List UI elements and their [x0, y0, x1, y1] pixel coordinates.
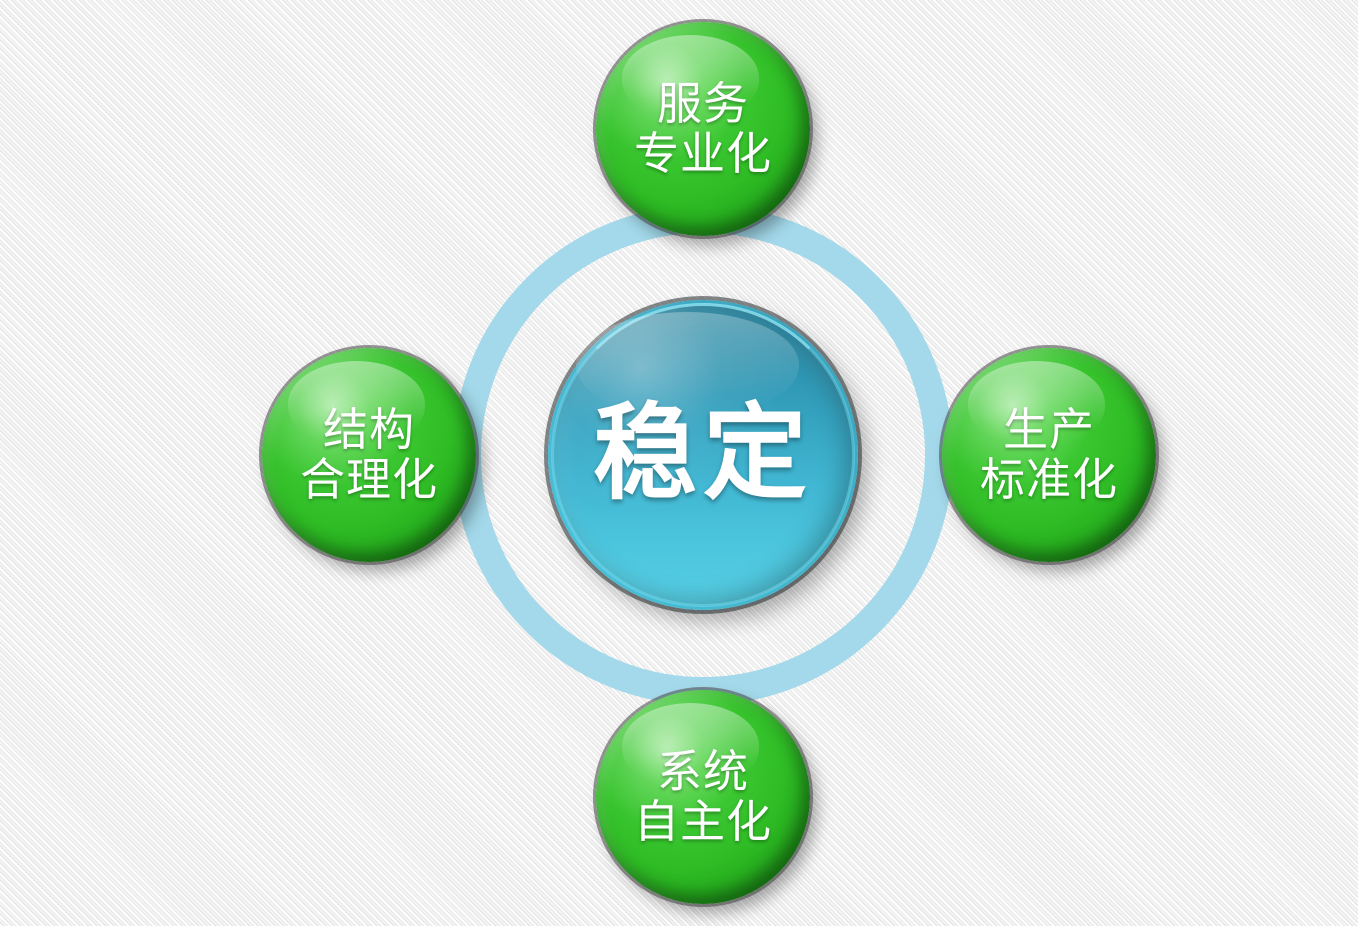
node-top[interactable]: 服务 专业化	[596, 22, 810, 236]
node-bottom[interactable]: 系统 自主化	[596, 690, 810, 904]
center-node[interactable]: 稳定	[548, 300, 858, 610]
node-right-line1: 生产	[1003, 405, 1095, 455]
node-left-line2: 合理化	[300, 455, 438, 505]
diagram-canvas: 服务 专业化 生产 标准化 系统 自主化 结构 合理化 稳定	[0, 0, 1358, 926]
center-node-label: 稳定	[593, 397, 813, 513]
node-top-line2: 专业化	[634, 129, 772, 179]
node-top-line1: 服务	[657, 79, 749, 129]
node-right[interactable]: 生产 标准化	[942, 348, 1156, 562]
node-bottom-line1: 系统	[657, 747, 749, 797]
node-left[interactable]: 结构 合理化	[262, 348, 476, 562]
node-left-line1: 结构	[323, 405, 415, 455]
node-bottom-line2: 自主化	[634, 797, 772, 847]
node-right-line2: 标准化	[980, 455, 1118, 505]
